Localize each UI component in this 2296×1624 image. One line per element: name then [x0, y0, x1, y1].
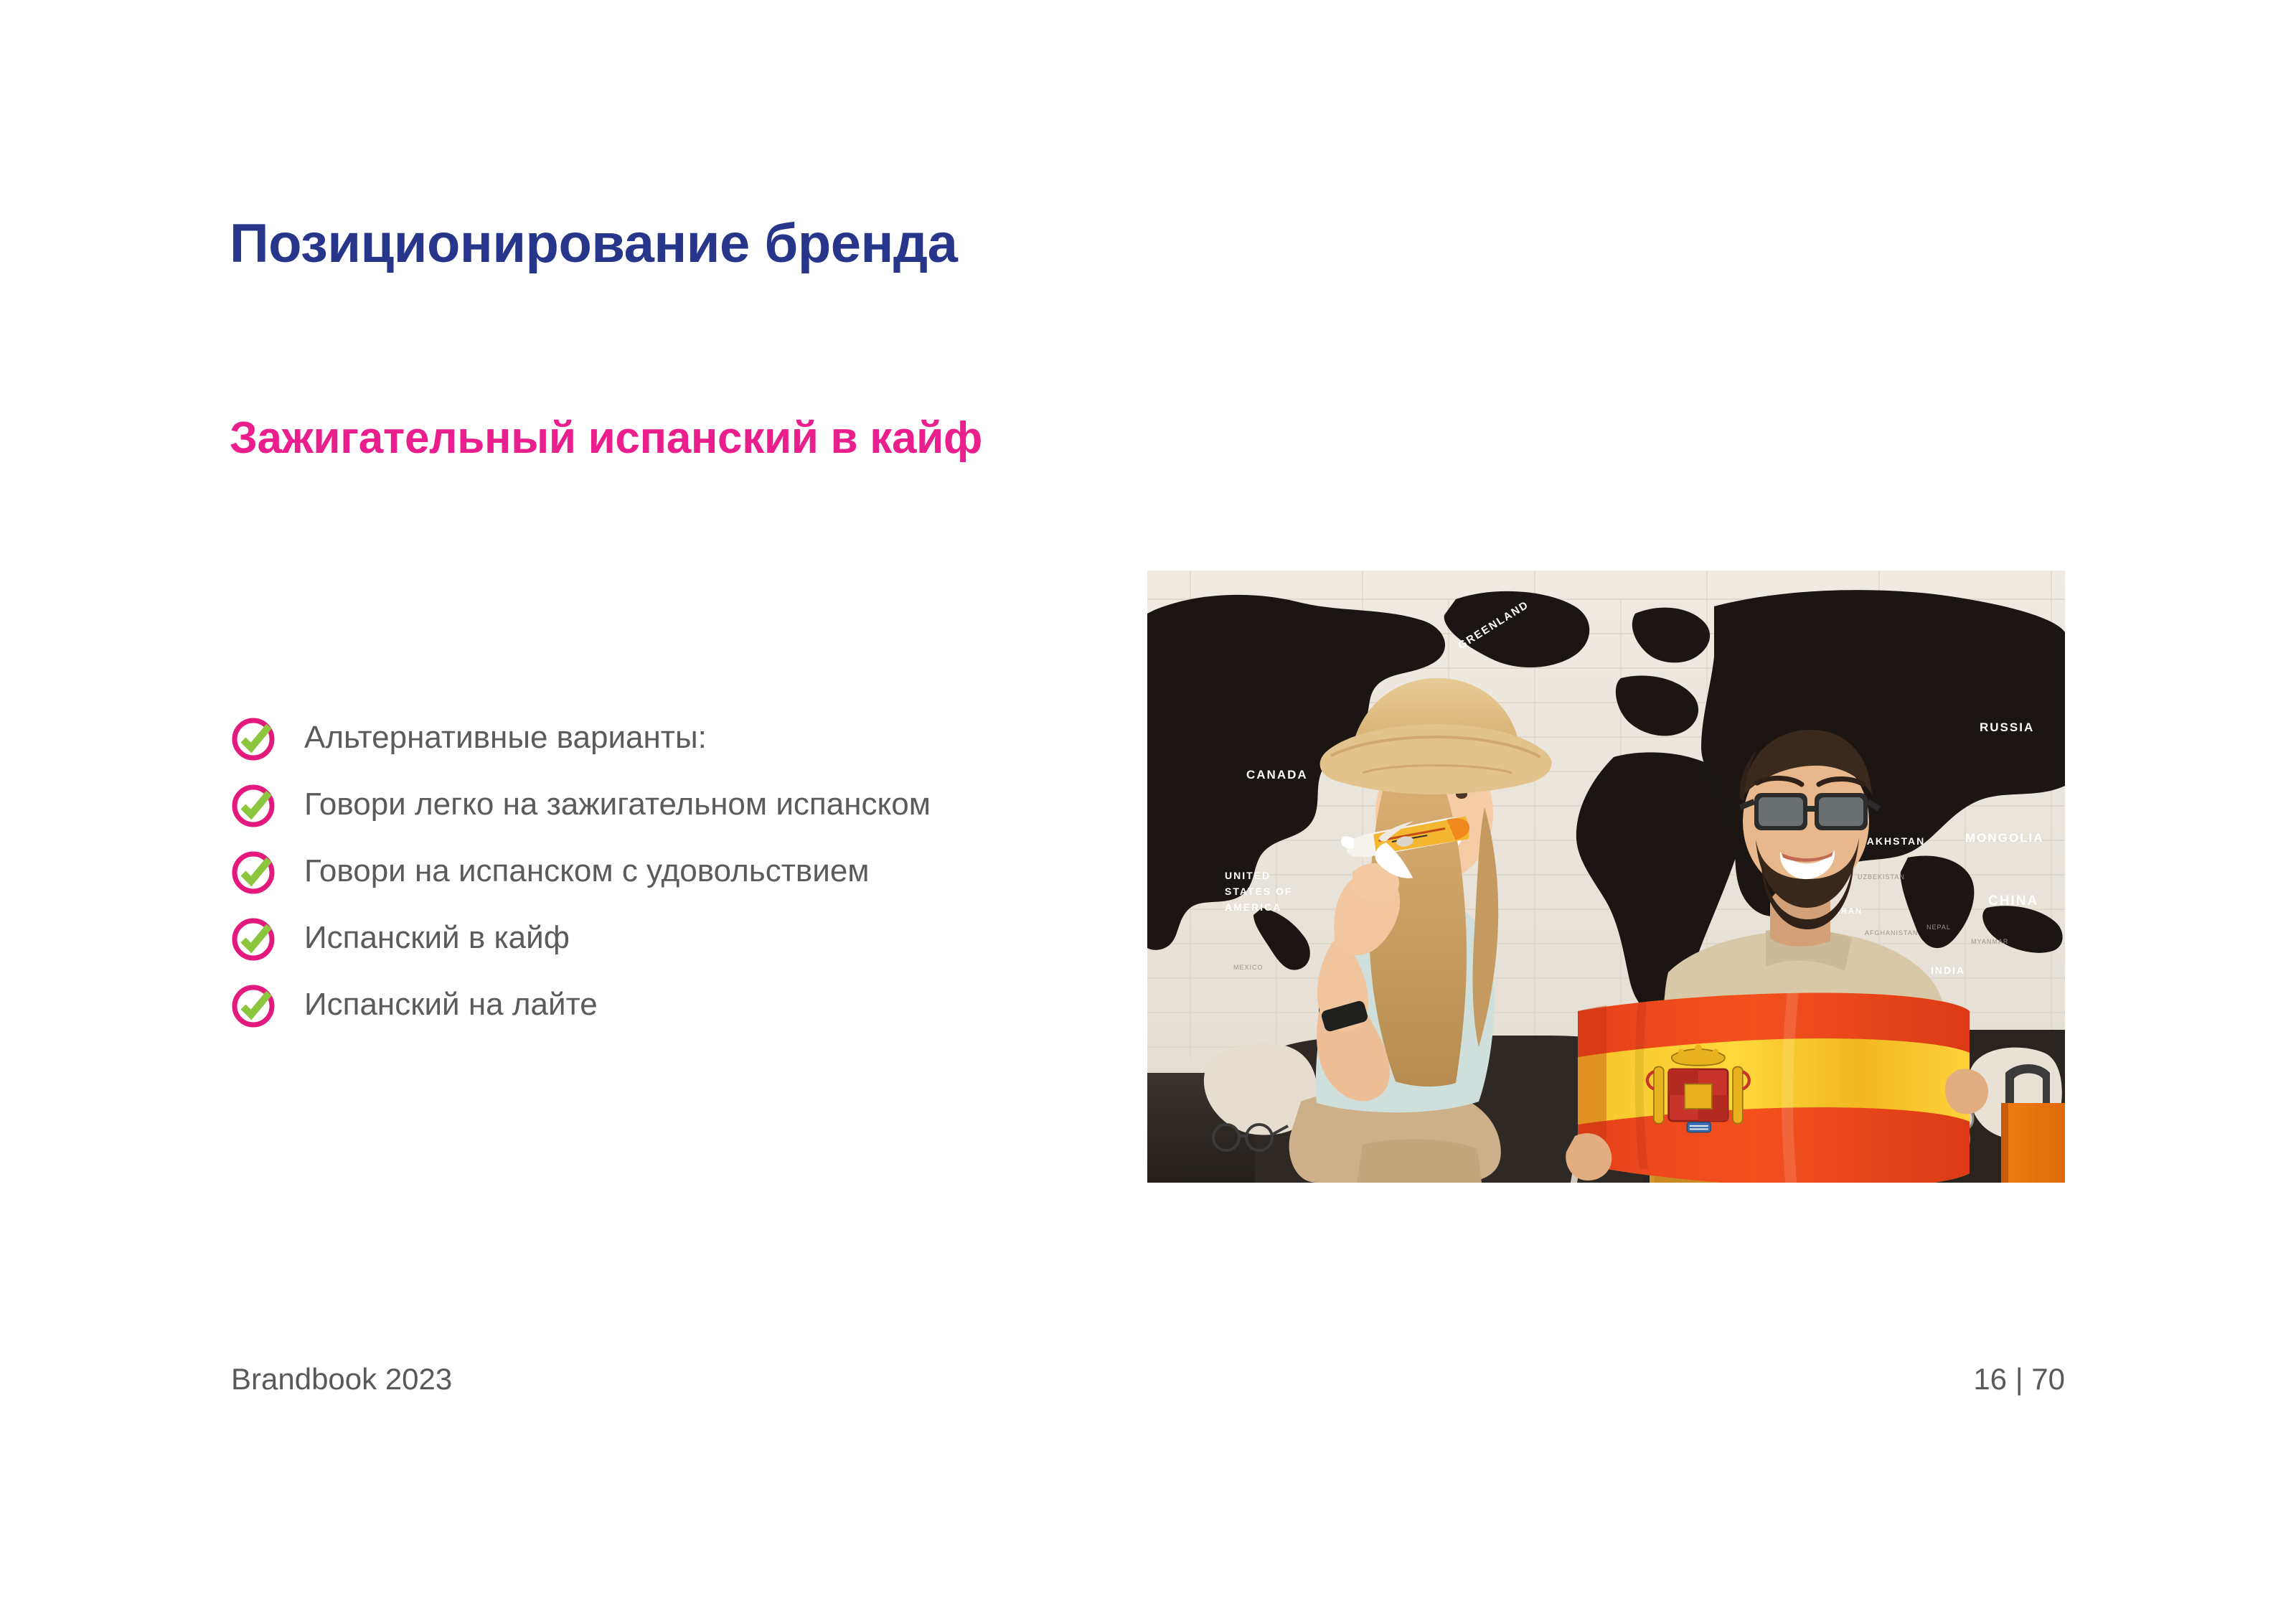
list-item-label: Говори легко на зажигательном испанском [304, 787, 931, 822]
svg-text:STATES OF: STATES OF [1225, 886, 1292, 897]
page-title: Позиционирование бренда [230, 215, 957, 273]
svg-text:AFGHANISTAN: AFGHANISTAN [1865, 929, 1918, 937]
svg-text:IRAN: IRAN [1838, 907, 1863, 916]
check-circle-icon [231, 915, 278, 962]
list-item-label: Испанский на лайте [304, 987, 598, 1022]
svg-text:UNITED: UNITED [1225, 870, 1271, 881]
check-circle-icon [231, 782, 278, 829]
list-item: Говори легко на зажигательном испанском [231, 771, 1149, 838]
svg-text:MYANMAR: MYANMAR [1971, 938, 2008, 945]
footer-page-indicator: 16 | 70 [1973, 1362, 2065, 1397]
svg-text:UZBEKISTAN: UZBEKISTAN [1858, 873, 1905, 881]
svg-text:CHINA: CHINA [1988, 893, 2038, 909]
check-circle-icon [231, 982, 278, 1029]
check-circle-icon [231, 715, 278, 762]
svg-text:RUSSIA: RUSSIA [1980, 721, 2034, 734]
svg-text:NEPAL: NEPAL [1926, 924, 1951, 931]
footer-brandbook-label: Brandbook 2023 [231, 1362, 452, 1397]
slide-canvas: Позиционирование бренда Зажигательный ис… [0, 0, 2296, 1624]
list-item: Говори на испанском с удовольствием [231, 838, 1149, 905]
list-item-label: Альтернативные варианты: [304, 721, 707, 755]
svg-text:CANADA: CANADA [1246, 768, 1308, 782]
list-item: Альтернативные варианты: [231, 705, 1149, 771]
couple-with-spanish-flag-photo: GREENLAND CANADA UNITED STATES OF AMERIC… [1147, 571, 2065, 1183]
alternatives-list: Альтернативные варианты: Говори легко на… [231, 705, 1149, 1038]
check-circle-icon [231, 848, 278, 896]
list-item-label: Говори на испанском с удовольствием [304, 854, 870, 888]
svg-text:AMERICA: AMERICA [1225, 901, 1281, 913]
list-item-label: Испанский в кайф [304, 921, 570, 955]
svg-text:MEXICO: MEXICO [1233, 964, 1264, 971]
page-subtitle: Зажигательный испанский в кайф [230, 415, 982, 461]
svg-text:MONGOLIA: MONGOLIA [1965, 831, 2044, 845]
list-item: Испанский на лайте [231, 972, 1149, 1038]
svg-text:INDIA: INDIA [1931, 964, 1965, 976]
list-item: Испанский в кайф [231, 905, 1149, 972]
